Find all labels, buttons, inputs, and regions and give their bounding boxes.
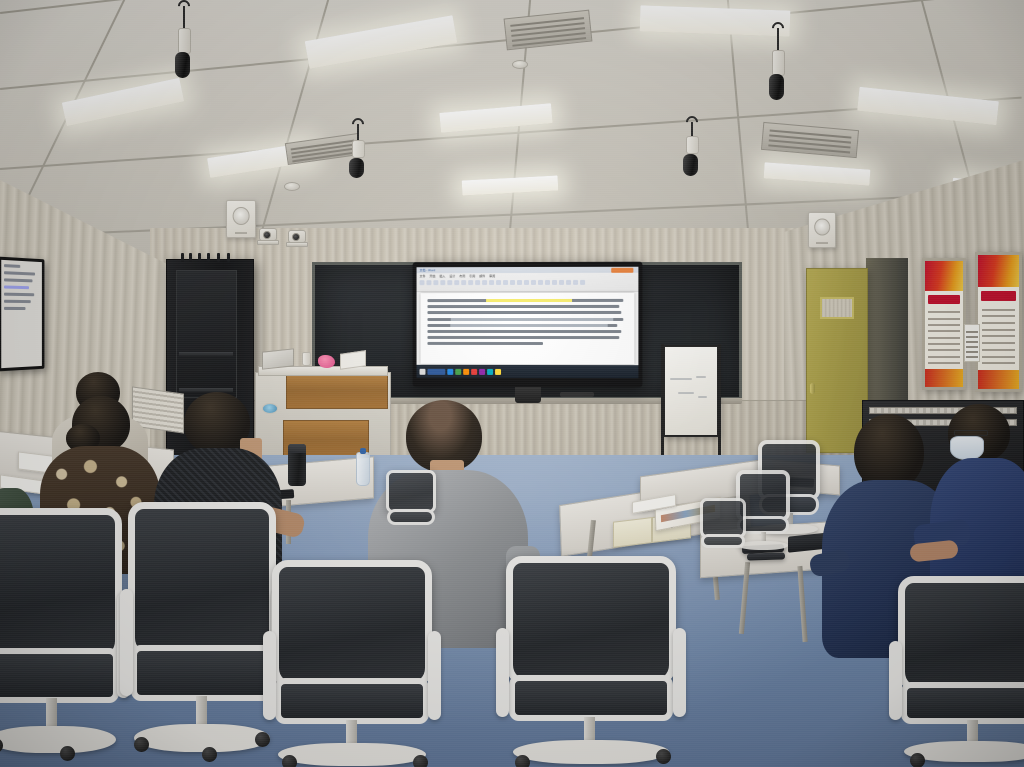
ribbon-tab[interactable]: 文件 xyxy=(420,274,426,278)
office-chair[interactable] xyxy=(386,470,436,540)
chair-backrest xyxy=(386,470,436,513)
chair-caster xyxy=(515,755,530,767)
poster-text-line xyxy=(928,324,959,326)
easel-leg xyxy=(718,344,721,464)
rack-shelf xyxy=(179,352,233,356)
notice-text-line xyxy=(966,341,977,343)
smoke-detector xyxy=(284,182,300,191)
pink-desk-item xyxy=(318,355,335,368)
display-screen: 文档 - Word 文件 开始 插入 设计 布局 引用 邮件 审阅 xyxy=(417,267,639,378)
chair-star-base xyxy=(278,743,425,766)
ribbon-tab[interactable]: 引用 xyxy=(469,274,475,278)
document-text-line xyxy=(427,311,621,314)
camera-lens-icon xyxy=(292,233,300,241)
document-text-line xyxy=(427,318,623,321)
poster-text-line xyxy=(928,330,959,332)
chair-backrest xyxy=(0,508,122,663)
poster-footer-band xyxy=(978,370,1019,389)
travel-tumbler xyxy=(288,444,306,486)
poster-text-line xyxy=(982,342,1016,344)
chair-seat xyxy=(509,675,672,722)
secondary-monitor-screen xyxy=(1,260,42,368)
poster-text-line xyxy=(928,311,959,313)
wall-camera xyxy=(286,230,308,248)
chair-seat xyxy=(701,534,745,548)
ceiling-air-vent xyxy=(504,10,593,51)
tv-wall-mount xyxy=(515,387,541,403)
document-text-line xyxy=(427,330,621,333)
chair-caster xyxy=(202,747,217,762)
word-titlebar: 文档 - Word xyxy=(417,267,639,273)
ceiling-air-vent xyxy=(761,122,859,158)
taskbar-app-icon[interactable] xyxy=(447,368,453,374)
whiteboard-marking xyxy=(696,376,706,378)
poster-banner xyxy=(925,261,963,291)
speaker-cone xyxy=(233,207,250,225)
chair-caster xyxy=(413,755,428,767)
speaker-slot xyxy=(816,242,827,244)
presenter-laptop[interactable] xyxy=(262,348,294,369)
word-window-title: 文档 - Word xyxy=(420,268,436,272)
document-text-line xyxy=(427,299,623,302)
ribbon-tab[interactable]: 插入 xyxy=(439,274,445,278)
ceiling-light-panel xyxy=(305,15,458,69)
chair-backrest xyxy=(272,560,432,690)
poster-text-line xyxy=(982,349,1016,351)
camera-lens-icon xyxy=(263,231,271,239)
remote-control[interactable] xyxy=(747,552,785,560)
ceiling-light-panel xyxy=(462,175,559,195)
taskbar-start-icon[interactable] xyxy=(420,368,426,374)
chair-armrest xyxy=(428,631,441,719)
office-chair[interactable] xyxy=(506,556,676,767)
chair-star-base xyxy=(0,726,116,754)
ceiling-light-panel xyxy=(857,87,999,126)
chair-caster xyxy=(60,746,75,761)
whiteboard-surface[interactable] xyxy=(663,345,719,437)
notice-text-line xyxy=(966,356,977,358)
document-text-line xyxy=(427,305,619,308)
wall-poster-right xyxy=(975,252,1022,392)
whiteboard-marking xyxy=(698,396,707,398)
poster-footer-band xyxy=(925,369,963,387)
office-chair[interactable] xyxy=(0,508,122,758)
chair-caster xyxy=(282,755,297,767)
office-chair[interactable] xyxy=(898,576,1024,766)
wall-speaker xyxy=(226,200,256,238)
office-chair[interactable] xyxy=(700,498,746,562)
word-ribbon: 文档 - Word 文件 开始 插入 设计 布局 引用 邮件 审阅 xyxy=(417,267,639,292)
taskbar-app-icon[interactable] xyxy=(471,368,477,374)
wall-camera xyxy=(257,228,279,246)
bottle-cap xyxy=(360,448,367,454)
notice-text-line xyxy=(966,351,977,353)
door-window xyxy=(820,297,854,319)
document-text-line xyxy=(427,336,619,339)
word-account-badge xyxy=(611,268,633,273)
notice-text-line xyxy=(966,346,977,348)
whiteboard-marking xyxy=(670,378,692,380)
windows-taskbar[interactable] xyxy=(417,365,639,378)
smoke-detector xyxy=(512,60,528,69)
taskbar-app-icon[interactable] xyxy=(487,368,493,374)
ceiling-light-panel xyxy=(764,162,871,185)
ribbon-tab[interactable]: 开始 xyxy=(429,274,435,278)
ceiling-light-panel xyxy=(439,103,552,133)
notice-text-line xyxy=(966,336,977,338)
taskbar-app-icon[interactable] xyxy=(463,368,469,374)
notebook-spine xyxy=(651,518,653,542)
whiteboard-marking xyxy=(678,392,694,394)
chair-backrest xyxy=(898,576,1024,694)
poster-title-bar xyxy=(981,291,1015,300)
document-text-line xyxy=(427,342,543,345)
word-ribbon-toolbar[interactable] xyxy=(417,279,639,286)
chair-star-base xyxy=(134,724,270,752)
chair-backrest xyxy=(128,502,276,660)
ribbon-tab[interactable]: 邮件 xyxy=(479,274,485,278)
water-bottle xyxy=(356,452,370,486)
ir-sensor-bar xyxy=(560,392,594,397)
chair-seat xyxy=(131,645,273,701)
wall-speaker xyxy=(808,212,836,248)
poster-text-line xyxy=(982,309,1016,311)
office-chair[interactable] xyxy=(128,502,276,757)
ceiling-light-panel xyxy=(640,5,791,36)
taskbar-app-icon[interactable] xyxy=(495,368,501,374)
chair-armrest xyxy=(263,631,276,719)
rack-cable-bundle xyxy=(177,253,237,261)
door-handle[interactable] xyxy=(810,383,815,394)
person-head xyxy=(854,414,924,490)
chair-armrest xyxy=(120,589,133,696)
poster-text-line xyxy=(982,322,1016,324)
ribbon-tab[interactable]: 布局 xyxy=(459,274,465,278)
chair-armrest xyxy=(496,628,509,717)
poster-text-line xyxy=(928,362,959,364)
poster-text-line xyxy=(982,362,1016,364)
rack-glass-door[interactable] xyxy=(176,270,237,398)
poster-banner xyxy=(978,255,1019,287)
poster-text-line xyxy=(928,318,959,320)
poster-text-line xyxy=(928,337,959,339)
chair-backrest xyxy=(506,556,676,687)
chair-seat xyxy=(0,648,119,703)
chair-armrest xyxy=(673,628,686,717)
secondary-wall-monitor[interactable] xyxy=(0,257,44,372)
wall-notice-sheet xyxy=(964,324,980,362)
wall-poster-left xyxy=(922,258,966,390)
chair-star-base xyxy=(513,740,669,763)
poster-text-line xyxy=(982,335,1016,337)
poster-text-line xyxy=(928,343,959,345)
chair-seat xyxy=(387,509,435,524)
podium-water-bottle xyxy=(302,352,311,366)
camera-mount-arm xyxy=(257,240,279,245)
document-page xyxy=(421,293,635,364)
chair-caster xyxy=(656,749,671,764)
camera-mount-arm xyxy=(286,242,308,247)
taskbar-app-icon[interactable] xyxy=(455,368,461,374)
mobile-whiteboard-easel[interactable] xyxy=(660,340,722,470)
poster-text-line xyxy=(982,315,1016,317)
ribbon-tab[interactable]: 审阅 xyxy=(489,274,495,278)
chair-caster xyxy=(910,753,925,767)
chair-caster xyxy=(134,737,149,752)
poster-text-line xyxy=(928,356,959,358)
speaker-slot xyxy=(235,232,247,234)
rack-shelf xyxy=(179,388,233,392)
chair-caster xyxy=(255,732,270,747)
wall-mounted-display[interactable]: 文档 - Word 文件 开始 插入 设计 布局 引用 邮件 审阅 xyxy=(413,262,643,388)
cabinet-logo-badge xyxy=(262,403,278,414)
chair-seat xyxy=(275,678,429,724)
poster-title-bar xyxy=(928,295,960,304)
speaker-cone xyxy=(814,219,830,236)
ribbon-tab[interactable]: 设计 xyxy=(449,274,455,278)
poster-text-line xyxy=(982,356,1016,358)
classroom-photo-scene: 文档 - Word 文件 开始 插入 设计 布局 引用 邮件 审阅 xyxy=(0,0,1024,767)
chair-backrest xyxy=(700,498,746,538)
tumbler-lid xyxy=(288,444,306,453)
document-text-line xyxy=(427,324,617,327)
chair-seat xyxy=(901,682,1024,724)
notice-text-line xyxy=(966,331,977,333)
poster-text-line xyxy=(982,329,1016,331)
podium-wood-front xyxy=(286,375,388,409)
easel-leg xyxy=(661,344,664,470)
poster-text-line xyxy=(928,349,959,351)
taskbar-app-icon[interactable] xyxy=(427,368,445,374)
face-mask xyxy=(950,436,984,460)
room-door[interactable] xyxy=(806,268,868,453)
office-chair[interactable] xyxy=(272,560,432,767)
taskbar-app-icon[interactable] xyxy=(479,368,485,374)
chair-armrest xyxy=(889,641,902,721)
